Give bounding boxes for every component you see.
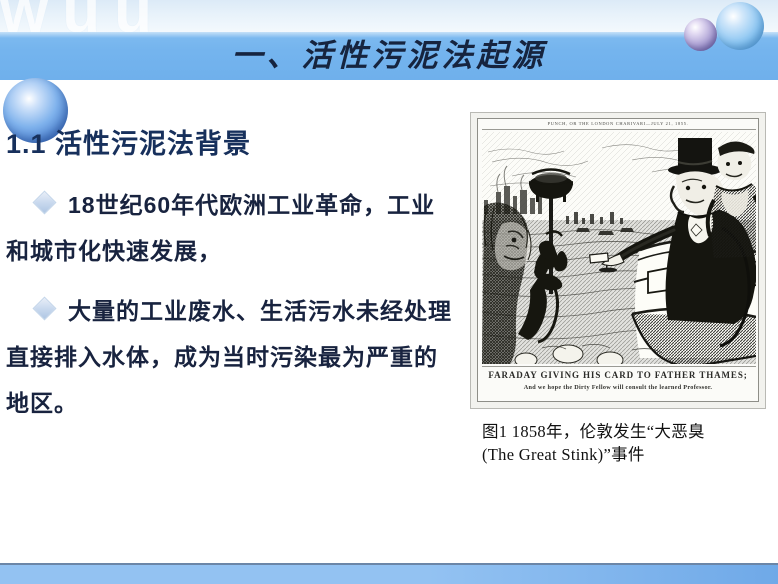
paragraph-text: 18世纪60年代欧洲工业革命，工业和城市化快速发展， (6, 182, 456, 274)
slide-canvas: wuu 一、活性污泥法起源 1.1 活性污泥法背景 18世纪60年代欧洲工业革命… (0, 0, 778, 584)
figure-plate-caption-secondary: And we hope the Dirty Fellow will consul… (478, 384, 758, 391)
bullet-paragraph: 18世纪60年代欧洲工业革命，工业和城市化快速发展， (6, 182, 456, 274)
body-text-block: 18世纪60年代欧洲工业革命，工业和城市化快速发展， 大量的工业废水、生活污水未… (6, 182, 456, 440)
figure-top-rule (482, 129, 756, 130)
decorative-sphere-large-icon (716, 2, 764, 50)
figure-caption-rule (482, 366, 756, 367)
bullet-paragraph: 大量的工业废水、生活污水未经处理直接排入水体，成为当时污染最为严重的地区。 (6, 288, 456, 426)
figure-plate-caption-primary: FARADAY GIVING HIS CARD TO FATHER THAMES… (478, 370, 758, 380)
figure-masthead-text: PUNCH, OR THE LONDON CHARIVARI—JULY 21, … (478, 121, 758, 126)
figure-caption: 图1 1858年，伦敦发生“大恶臭 (The Great Stink)”事件 (482, 420, 772, 466)
section-subtitle: 1.1 活性污泥法背景 (6, 122, 251, 161)
figure-illustration: PUNCH, OR THE LONDON CHARIVARI—JULY 21, … (470, 112, 766, 409)
figure-caption-line2: (The Great Stink)”事件 (482, 443, 772, 466)
paragraph-text: 大量的工业废水、生活污水未经处理直接排入水体，成为当时污染最为严重的地区。 (6, 288, 456, 426)
decorative-sphere-small-icon (684, 18, 717, 51)
figure-inner-frame: PUNCH, OR THE LONDON CHARIVARI—JULY 21, … (477, 118, 759, 402)
footer-bar (0, 565, 778, 584)
punch-cartoon-artwork (482, 132, 756, 364)
slide-title: 一、活性污泥法起源 (0, 34, 778, 78)
figure-caption-line1: 图1 1858年，伦敦发生“大恶臭 (482, 420, 772, 443)
